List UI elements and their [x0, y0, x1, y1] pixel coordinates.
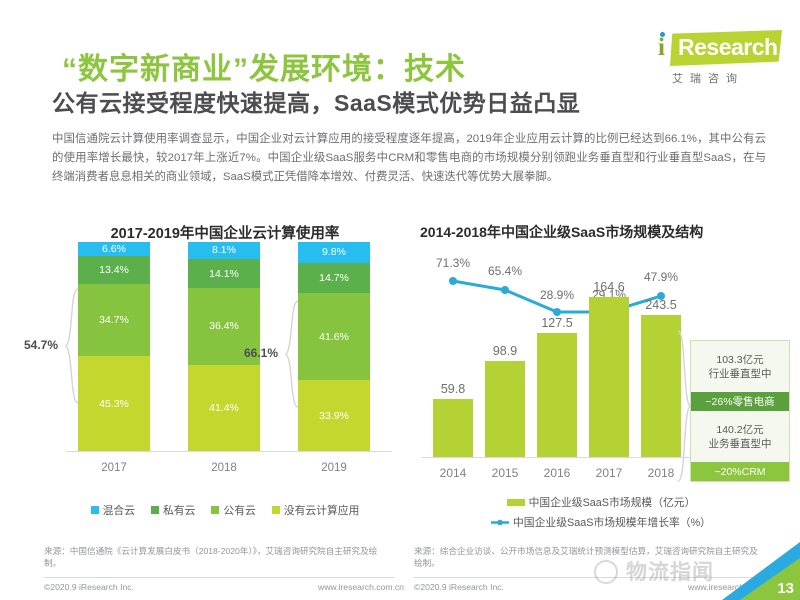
segment-no-cloud: 45.3% [78, 356, 150, 451]
x-label-2016: 2016 [528, 466, 586, 480]
callout-business-vertical: 140.2亿元 业务垂直型中 [691, 411, 789, 462]
chart-panel-saas-market: 2014-2018年中国企业级SaaS市场规模及结构 71.3% 65.4% 2… [412, 222, 790, 562]
bar-stack-2017: 6.6% 13.4% 34.7% 45.3% [78, 242, 150, 451]
line-label-2016: 28.9% [527, 288, 587, 302]
x-label-2017: 2017 [78, 462, 150, 474]
page-subtitle: 公有云接受程度快速提高，SaaS模式优势日益凸显 [52, 84, 580, 118]
segment-mixed-cloud: 6.6% [78, 242, 150, 256]
chart-title-right: 2014-2018年中国企业级SaaS市场规模及结构 [412, 222, 798, 242]
legend-left-chart: 混合云 私有云 公有云 没有云计算应用 [40, 502, 410, 518]
legend-swatch-icon [507, 499, 525, 506]
annotation-66-1: 66.1% [244, 346, 278, 360]
annotation-54-7: 54.7% [24, 338, 58, 352]
line-label-2015: 65.4% [475, 264, 535, 278]
bar-2014 [433, 399, 473, 457]
segment-private-cloud: 14.1% [188, 259, 260, 289]
segment-mixed-cloud: 9.8% [298, 242, 370, 263]
bar-2016 [537, 333, 577, 457]
page-number: 13 [777, 580, 794, 597]
stacked-bar-chart: 6.6% 13.4% 34.7% 45.3% 8.1% 14.1% 36.4% … [40, 248, 410, 478]
bar-label-2016: 127.5 [528, 316, 586, 330]
footer-divider-left [44, 577, 394, 578]
x-label-2019: 2019 [298, 462, 370, 474]
website-url-left[interactable]: www.iresearch.com.cn [318, 582, 404, 592]
legend-right-chart: 中国企业级SaaS市场规模（亿元） 中国企业级SaaS市场规模年增长率（%） [412, 494, 790, 530]
callout-industry-vertical: 103.3亿元 行业垂直型中 [691, 341, 789, 392]
logo-wordmark: Research [678, 36, 778, 59]
brace-2017 [64, 288, 80, 404]
segment-mixed-cloud: 8.1% [188, 242, 260, 259]
line-label-2014: 71.3% [423, 256, 483, 270]
legend-label: 混合云 [103, 502, 135, 518]
legend-line-icon [491, 519, 509, 526]
bar-label-2014: 59.8 [424, 382, 482, 396]
legend-swatch-icon [211, 506, 219, 514]
line-point [553, 308, 561, 316]
legend-label: 公有云 [223, 502, 255, 518]
x-axis-line [66, 451, 392, 452]
segment-private-cloud: 13.4% [78, 256, 150, 284]
logo-chinese-name: 艾瑞咨询 [672, 70, 744, 86]
copyright-right: ©2020.9 iResearch Inc. [414, 582, 504, 592]
legend-swatch-icon [151, 506, 159, 514]
legend-item-public-cloud[interactable]: 公有云 [211, 502, 255, 518]
watermark-text: 物流指闻 [626, 556, 714, 586]
legend-label: 没有云计算应用 [284, 502, 360, 518]
combo-bar-line-chart: 71.3% 65.4% 28.9% 29.1% 47.9% 59.8 98.9 … [412, 244, 790, 484]
x-label-2014: 2014 [424, 466, 482, 480]
callout-value: 103.3亿元 [716, 353, 763, 367]
bar-stack-2019: 9.8% 14.7% 41.6% 33.9% [298, 242, 370, 451]
x-label-2017: 2017 [580, 466, 638, 480]
legend-label: 中国企业级SaaS市场规模年增长率（%） [513, 514, 711, 530]
legend-label: 私有云 [163, 502, 195, 518]
bar-2015 [485, 361, 525, 457]
legend-label: 中国企业级SaaS市场规模（亿元） [529, 494, 696, 510]
callout-band-retail: ~26%零售电商 [691, 392, 789, 411]
body-paragraph: 中国信通院云计算使用率调查显示，中国企业对云计算应用的接受程度逐年提高，2019… [52, 130, 766, 187]
page-title: “数字新商业”发展环境：技术 [62, 44, 466, 88]
legend-item-saas-growth-rate[interactable]: 中国企业级SaaS市场规模年增长率（%） [491, 514, 711, 530]
chart-panel-cloud-usage: 2017-2019年中国企业云计算使用率 6.6% 13.4% 34.7% 45… [40, 222, 410, 562]
source-note-left: 来源：中国信通院《云计算发展白皮书（2018-2020年）》，艾瑞咨询研究院自主… [44, 545, 394, 569]
legend-swatch-icon [91, 506, 99, 514]
segment-public-cloud: 34.7% [78, 284, 150, 357]
bar-2018 [641, 315, 681, 457]
bar-2017 [589, 297, 629, 457]
copyright-left: ©2020.9 iResearch Inc. [44, 582, 134, 592]
segment-private-cloud: 14.7% [298, 263, 370, 294]
line-point [501, 286, 509, 294]
line-point [449, 277, 457, 285]
iresearch-logo: i Research 艾瑞咨询 [648, 30, 788, 92]
x-label-2015: 2015 [476, 466, 534, 480]
callout-band-crm: ~20%CRM [691, 462, 789, 481]
callout-desc: 行业垂直型中 [709, 367, 772, 381]
x-label-2018: 2018 [188, 462, 260, 474]
bar-label-2017: 164.6 [580, 280, 638, 294]
callout-value: 140.2亿元 [716, 423, 763, 437]
logo-letter-i: i [658, 35, 665, 60]
saas-structure-callout: 103.3亿元 行业垂直型中 ~26%零售电商 140.2亿元 业务垂直型中 ~… [690, 340, 790, 482]
bar-label-2015: 98.9 [476, 344, 534, 358]
legend-item-no-cloud[interactable]: 没有云计算应用 [272, 502, 360, 518]
legend-item-saas-market-size[interactable]: 中国企业级SaaS市场规模（亿元） [507, 494, 696, 510]
watermark-logo-icon [594, 560, 618, 584]
legend-item-private-cloud[interactable]: 私有云 [151, 502, 195, 518]
brace-2019 [284, 300, 300, 408]
slide: i Research 艾瑞咨询 “数字新商业”发展环境：技术 公有云接受程度快速… [0, 0, 800, 600]
callout-desc: 业务垂直型中 [709, 437, 772, 451]
segment-no-cloud: 33.9% [298, 380, 370, 451]
line-label-2018: 47.9% [631, 270, 691, 284]
legend-item-mixed-cloud[interactable]: 混合云 [91, 502, 135, 518]
segment-public-cloud: 41.6% [298, 293, 370, 380]
segment-no-cloud: 41.4% [188, 365, 260, 452]
bar-label-2018: 243.5 [632, 298, 690, 312]
chart-title-left: 2017-2019年中国企业云计算使用率 [40, 222, 410, 243]
legend-swatch-icon [272, 506, 280, 514]
